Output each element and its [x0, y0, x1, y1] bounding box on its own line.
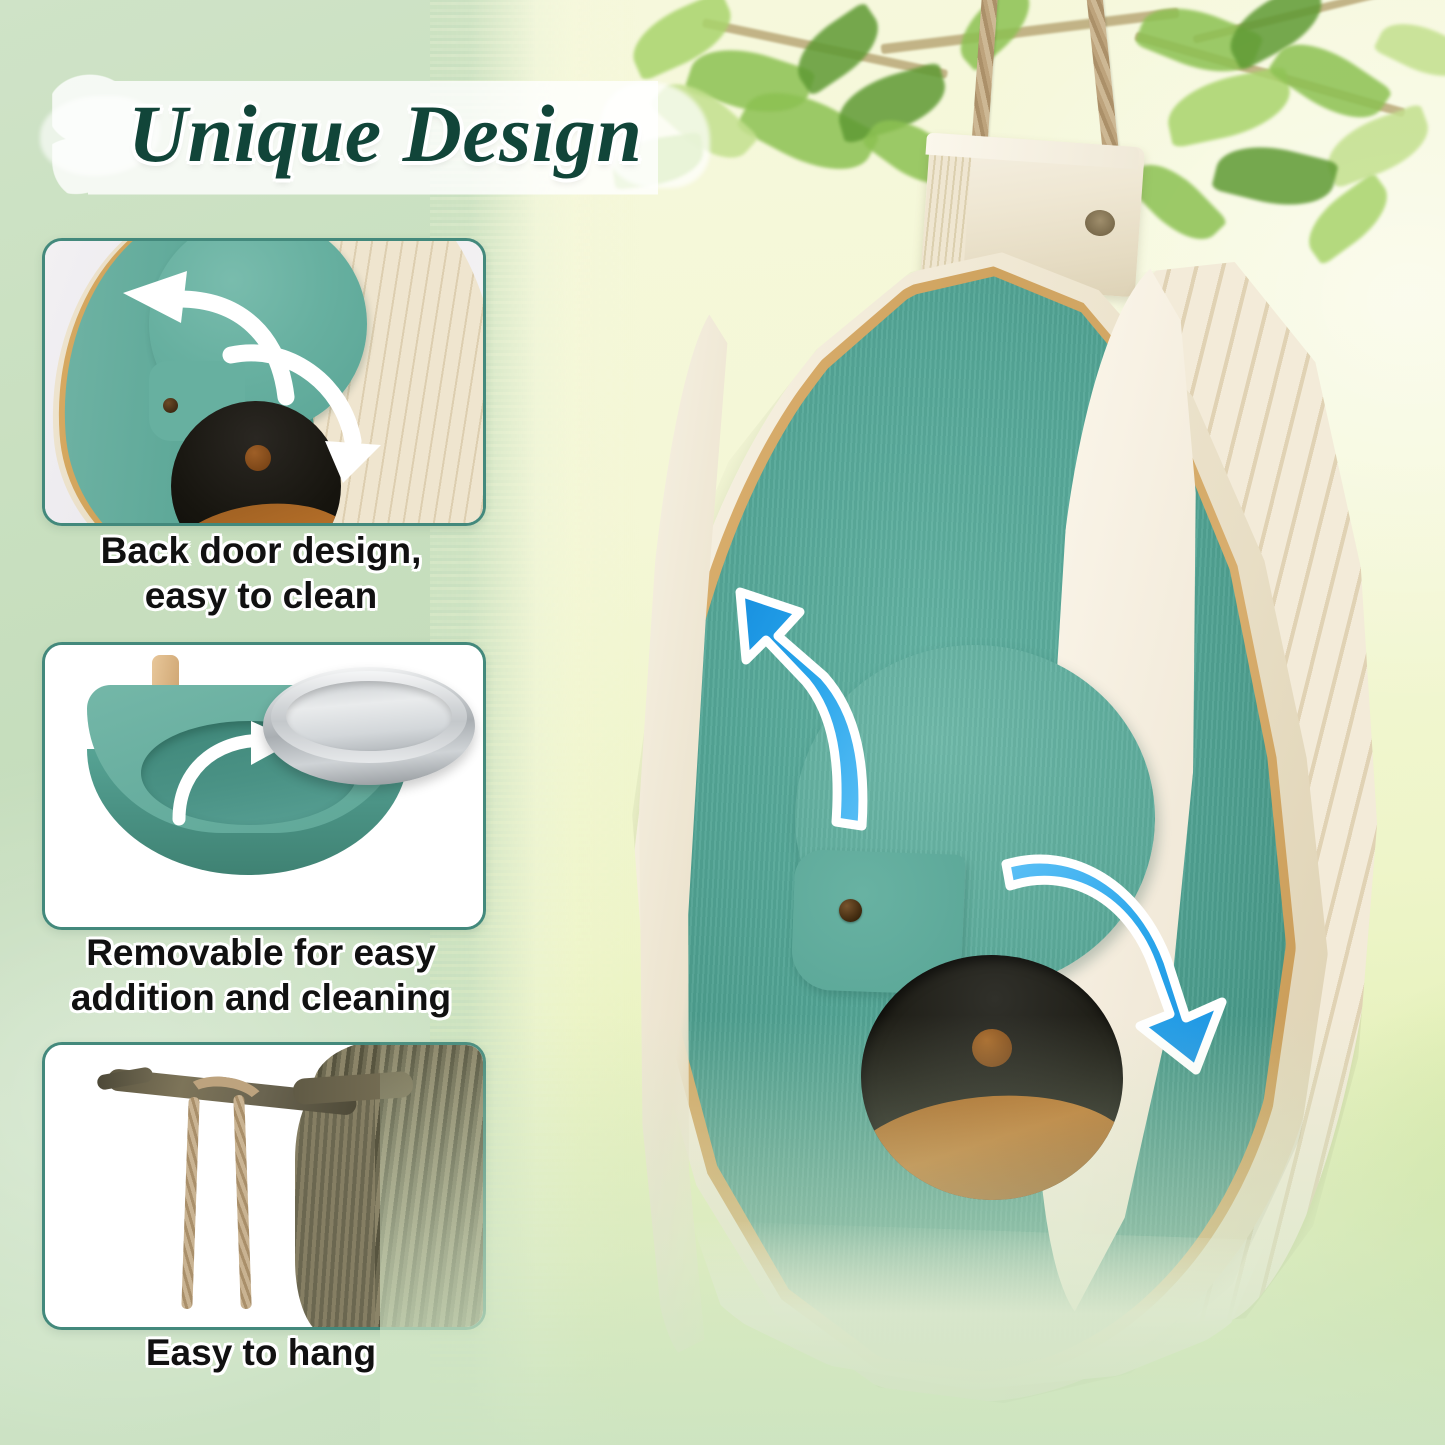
caption-line-2: addition and cleaning [42, 975, 480, 1020]
pivot-screw [839, 899, 862, 922]
caption-line-1: Back door design, [42, 528, 480, 573]
feature-caption-back-door: Back door design, easy to clean [42, 528, 480, 618]
background-bottom-fade [380, 1015, 1445, 1445]
panel1-rotate-arrow-right-icon [221, 337, 401, 487]
panel3-trunk-shade [295, 1085, 375, 1327]
panel1-interior-wood [171, 490, 341, 523]
infographic-canvas: Unique Design [0, 0, 1445, 1445]
feature-image-removable-bowl [45, 645, 483, 927]
feature-image-back-door [45, 241, 483, 523]
feature-caption-removable-bowl: Removable for easy addition and cleaning [42, 930, 480, 1020]
panel2-steel-bowl-inside [286, 681, 452, 751]
page-title: Unique Design [128, 78, 688, 190]
feature-panel-back-door [42, 238, 486, 526]
caption-line-2: easy to clean [42, 573, 480, 618]
feature-panel-removable-bowl [42, 642, 486, 930]
rotate-door-left-arrow-icon [716, 578, 1016, 838]
caption-line-1: Removable for easy [42, 930, 480, 975]
